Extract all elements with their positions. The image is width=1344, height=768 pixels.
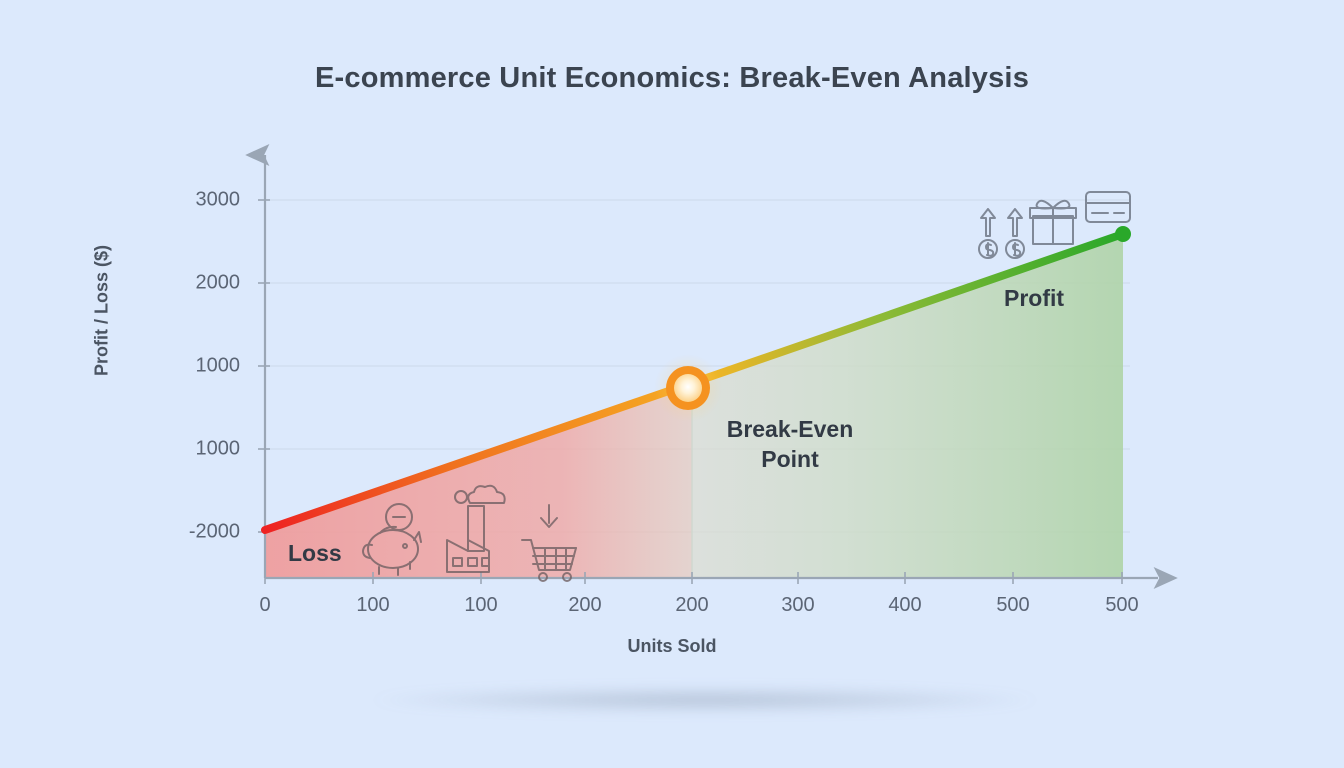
- y-tick-label: 3000: [130, 189, 240, 212]
- x-tick-label: 400: [888, 594, 921, 617]
- profit-zone-label: Profit: [1004, 285, 1064, 312]
- break-even-marker-core[interactable]: [674, 374, 702, 402]
- y-tick-label: -2000: [130, 521, 240, 544]
- x-tick-label: 100: [464, 594, 497, 617]
- x-tick-label: 500: [1105, 594, 1138, 617]
- x-tick-label: 100: [356, 594, 389, 617]
- x-tick-label: 500: [996, 594, 1029, 617]
- plot-area: [0, 0, 1344, 768]
- chart-canvas: E-commerce Unit Economics: Break-Even An…: [0, 0, 1344, 768]
- series-end-point: [1115, 226, 1131, 242]
- x-tick-label: 0: [259, 594, 270, 617]
- y-tick-label: 1000: [130, 438, 240, 461]
- dollar-up-arrow-icon: [979, 209, 997, 258]
- x-tick-label: 200: [568, 594, 601, 617]
- gift-box-icon: [1030, 201, 1076, 244]
- credit-card-icon: [1086, 192, 1130, 222]
- dollar-up-arrow-icon: [1006, 209, 1024, 258]
- x-tick-label: 300: [781, 594, 814, 617]
- break-even-annotation: Break-Even Point: [700, 414, 880, 475]
- y-tick-label: 1000: [130, 355, 240, 378]
- loss-zone-label: Loss: [288, 540, 342, 567]
- y-tick-label: 2000: [130, 272, 240, 295]
- x-tick-label: 200: [675, 594, 708, 617]
